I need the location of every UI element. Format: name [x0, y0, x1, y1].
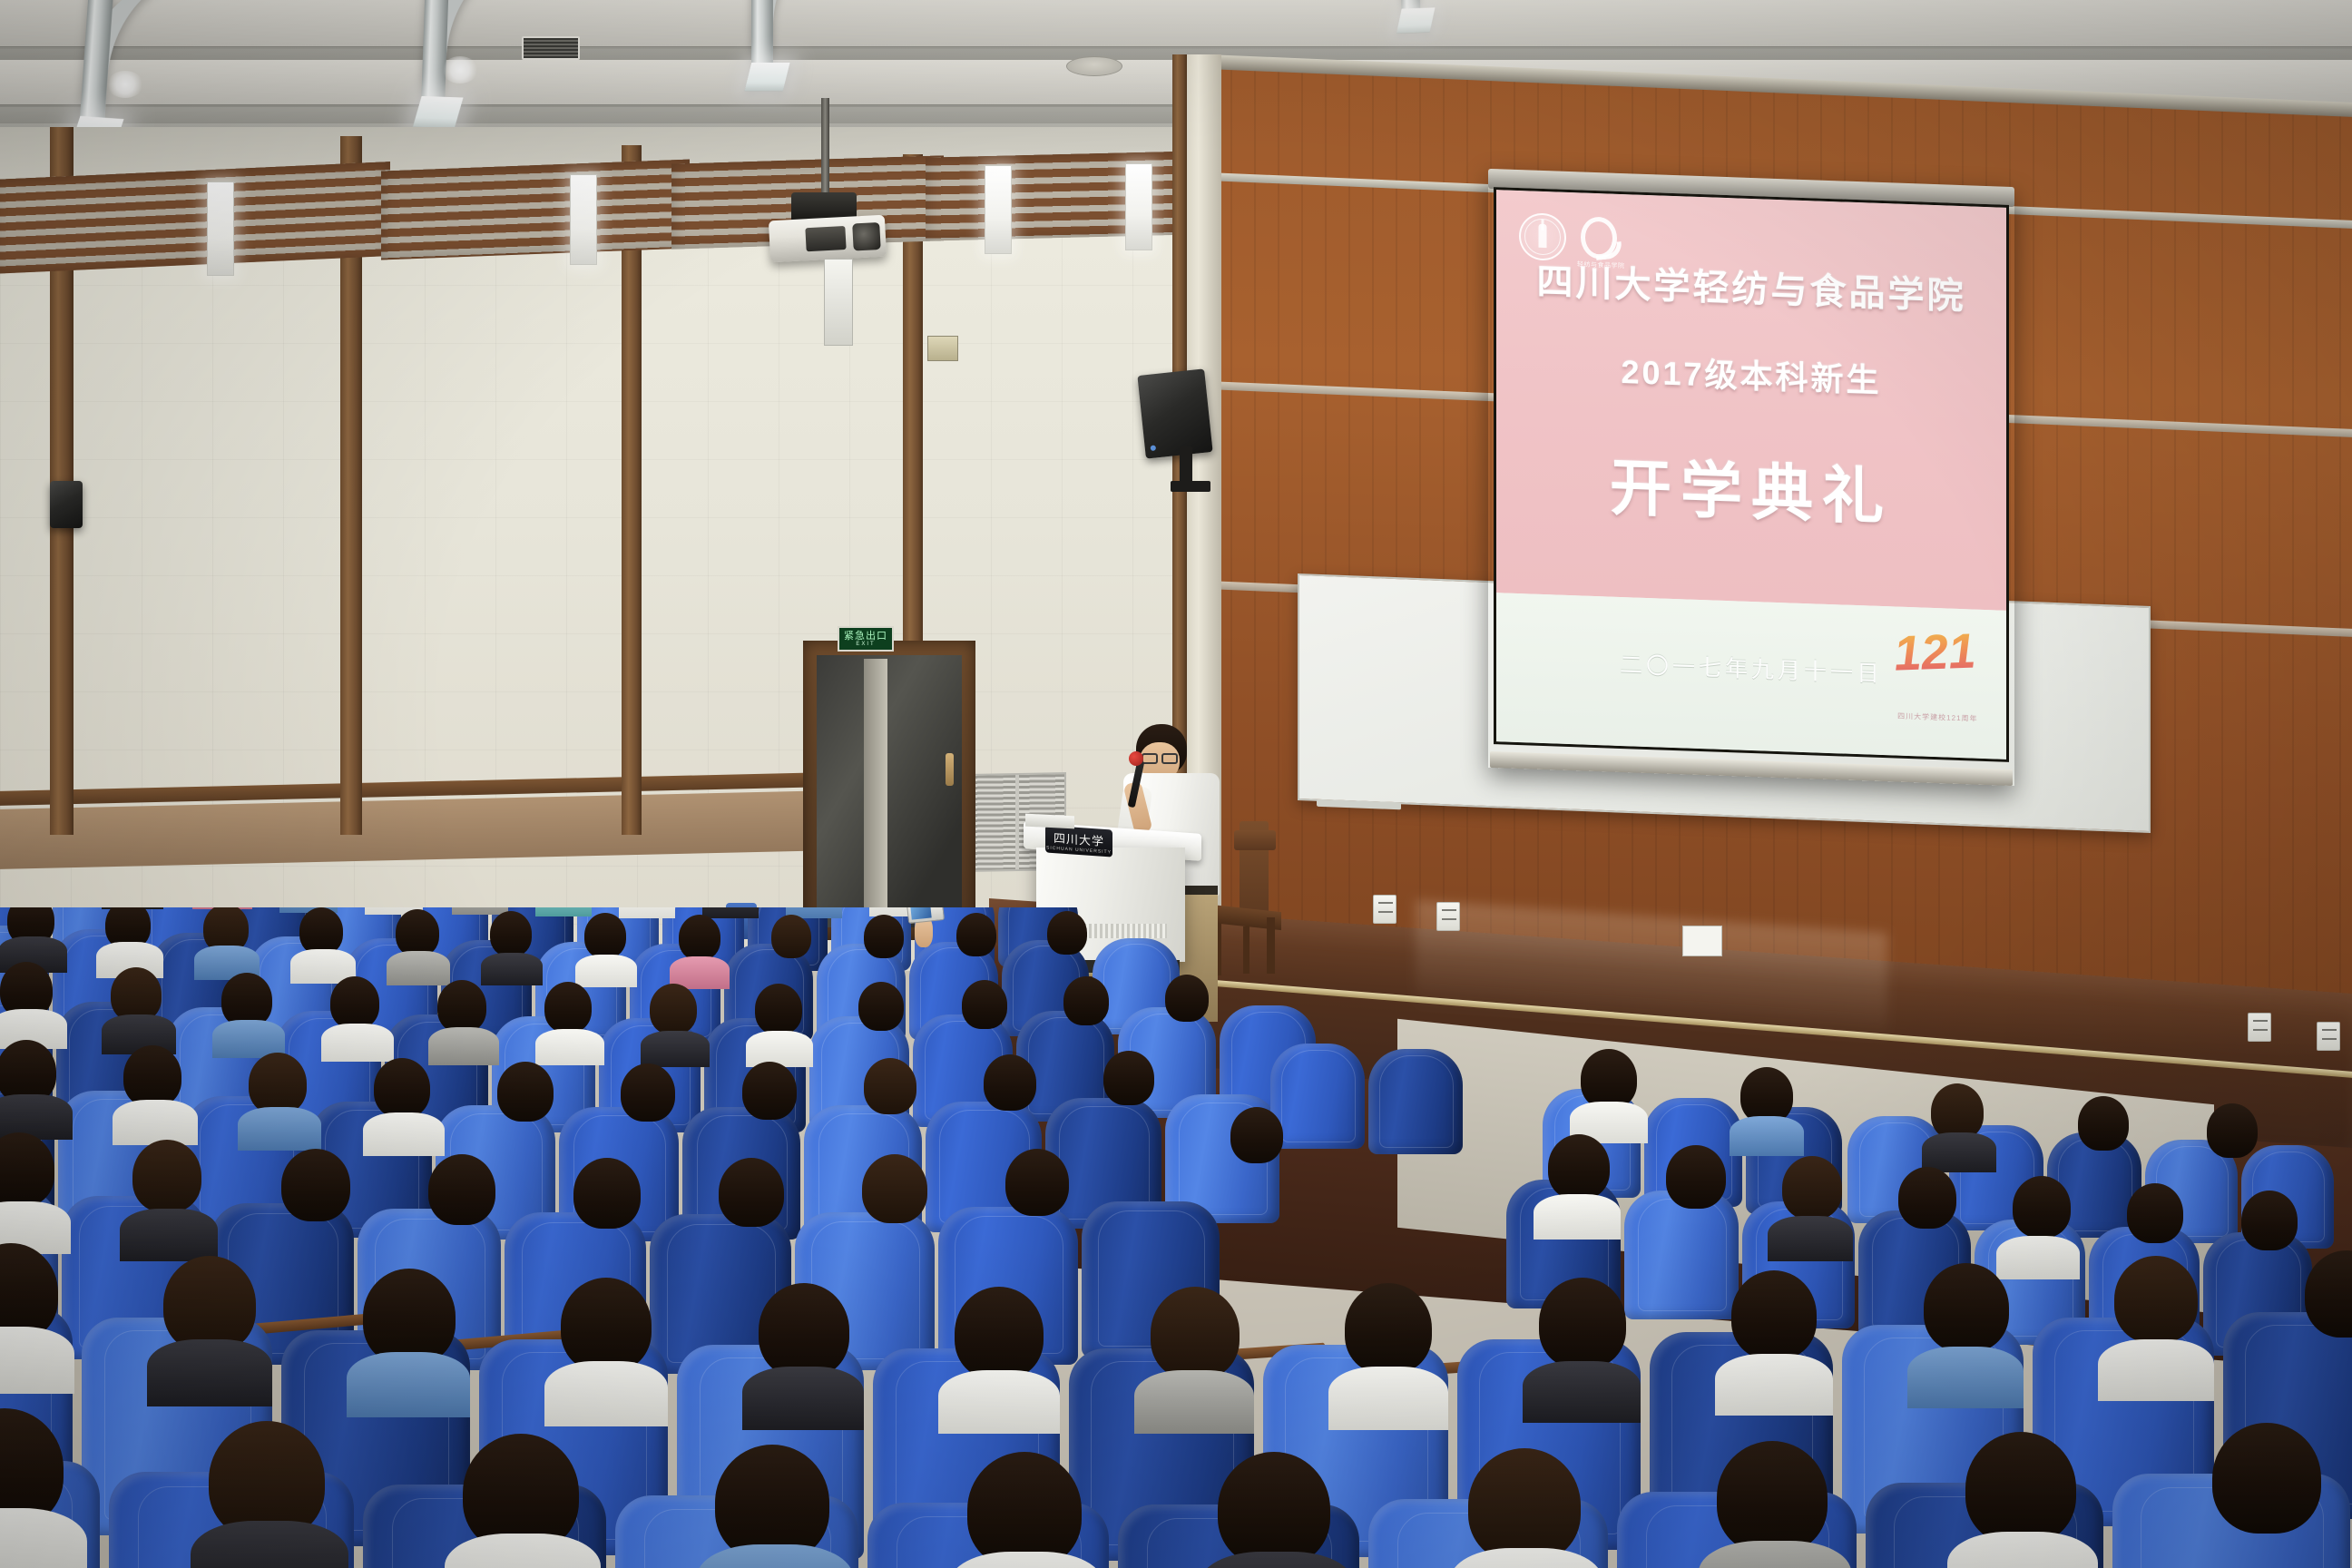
anniversary-mark: 121	[1892, 623, 1977, 682]
wall-speaker	[1137, 368, 1212, 458]
speaker-led	[1151, 445, 1157, 451]
louver-strip-light	[985, 165, 1012, 254]
projection-screen: 轻纺与食品学院 四川大学轻纺与食品学院 2017级本科新生 开学典礼 二〇一七年…	[1488, 169, 2014, 786]
audience-seating	[0, 907, 2352, 1568]
projector-hanging-light	[824, 259, 853, 346]
projector-lens	[852, 222, 881, 251]
door-handle[interactable]	[946, 753, 954, 786]
screen-surface: 轻纺与食品学院 四川大学轻纺与食品学院 2017级本科新生 开学典礼 二〇一七年…	[1494, 187, 2009, 762]
wood-louver-panel	[0, 162, 390, 274]
ceiling-projector	[769, 215, 887, 263]
exit-sign-text-cn: 紧急出口	[844, 632, 887, 642]
speaker-glasses-icon	[1161, 753, 1178, 764]
door-jamb	[864, 659, 887, 924]
wall-junction-box	[927, 336, 958, 361]
projector-vent	[805, 226, 846, 251]
louver-strip-light	[1125, 163, 1152, 250]
curved-ceiling-light	[1397, 0, 1511, 29]
louver-strip-light	[570, 174, 597, 265]
curved-ceiling-light	[751, 0, 877, 86]
louver-strip-light	[207, 181, 234, 276]
podium-equipment	[1025, 814, 1074, 829]
auditorium-photo: 轻纺与食品学院 四川大学轻纺与食品学院 2017级本科新生 开学典礼 二〇一七年…	[0, 0, 2352, 1568]
exit-door[interactable]	[817, 655, 962, 927]
exit-sign: 紧急出口 EXIT	[838, 626, 894, 652]
exit-sign-text-en: EXIT	[856, 642, 875, 647]
wood-louver-panel	[926, 151, 1198, 240]
wood-louver-panel	[381, 159, 690, 260]
projector-mount-rod	[821, 98, 829, 200]
ceiling-downlight	[1066, 56, 1122, 76]
curved-ceiling-light	[420, 0, 563, 126]
microphone-head	[1129, 751, 1143, 766]
wall-speaker	[50, 481, 83, 528]
speaker-bracket-arm	[1171, 481, 1210, 492]
podium-nameplate: 四川大学 SICHUAN UNIVERSITY	[1045, 825, 1112, 857]
slide-line-3: 开学典礼	[1496, 433, 2006, 541]
